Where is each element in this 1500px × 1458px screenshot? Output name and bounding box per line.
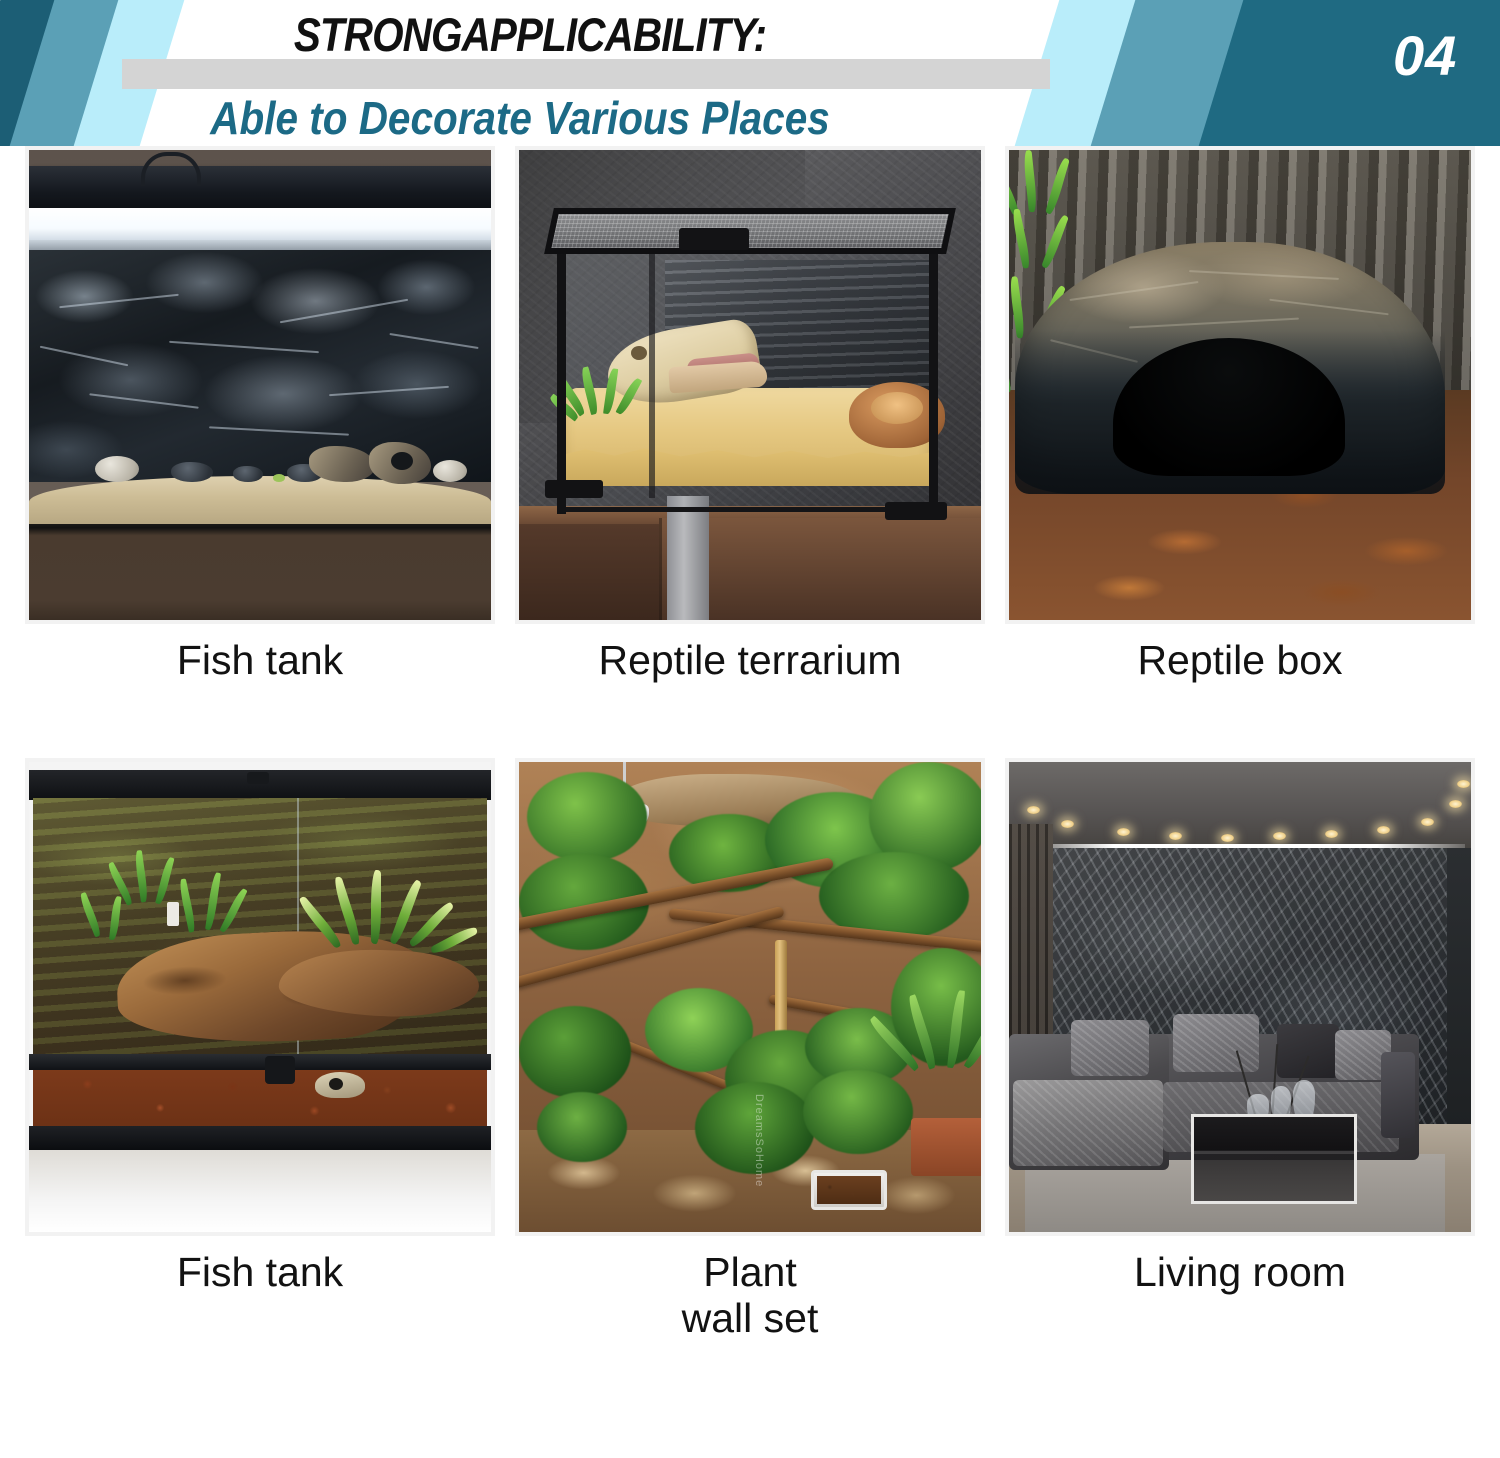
gallery-row: Fish tank <box>0 758 1500 1370</box>
photo-living-room <box>1005 758 1475 1236</box>
page-subtitle: Able to Decorate Various Places <box>62 94 977 142</box>
image-watermark: DreamsSoHome <box>753 1094 765 1187</box>
photo-caption: Living room <box>1005 1250 1475 1296</box>
page-title: STRONGAPPLICABILITY: <box>74 10 986 59</box>
photo-caption: Fish tank <box>25 638 495 684</box>
gallery-cell: Fish tank <box>25 758 495 1236</box>
gallery-cell: Reptile terrarium <box>515 146 985 624</box>
photo-reptile-terrarium <box>515 146 985 624</box>
photo-fish-tank-dark-rock <box>25 146 495 624</box>
photo-caption: Fish tank <box>25 1250 495 1296</box>
gallery-grid: Fish tank <box>0 146 1500 1370</box>
photo-reptile-box-cave <box>1005 146 1475 624</box>
gallery-cell: Living room <box>1005 758 1475 1236</box>
step-number-badge: 04 <box>1393 23 1457 88</box>
title-underlay-bar <box>122 59 1050 89</box>
caption-line: wall set <box>682 1295 819 1341</box>
gallery-cell: Fish tank <box>25 146 495 624</box>
caption-line: Plant <box>703 1249 796 1295</box>
photo-caption: Plantwall set <box>515 1250 985 1342</box>
photo-caption: Reptile terrarium <box>515 638 985 684</box>
page-header: STRONGAPPLICABILITY: Able to Decorate Va… <box>0 0 1500 146</box>
photo-fish-tank-mossy <box>25 758 495 1236</box>
gallery-row: Fish tank <box>0 146 1500 758</box>
gallery-cell: DreamsSoHome Plantwall set <box>515 758 985 1236</box>
photo-plant-wall-set: DreamsSoHome <box>515 758 985 1236</box>
photo-caption: Reptile box <box>1005 638 1475 684</box>
gallery-cell: Reptile box <box>1005 146 1475 624</box>
